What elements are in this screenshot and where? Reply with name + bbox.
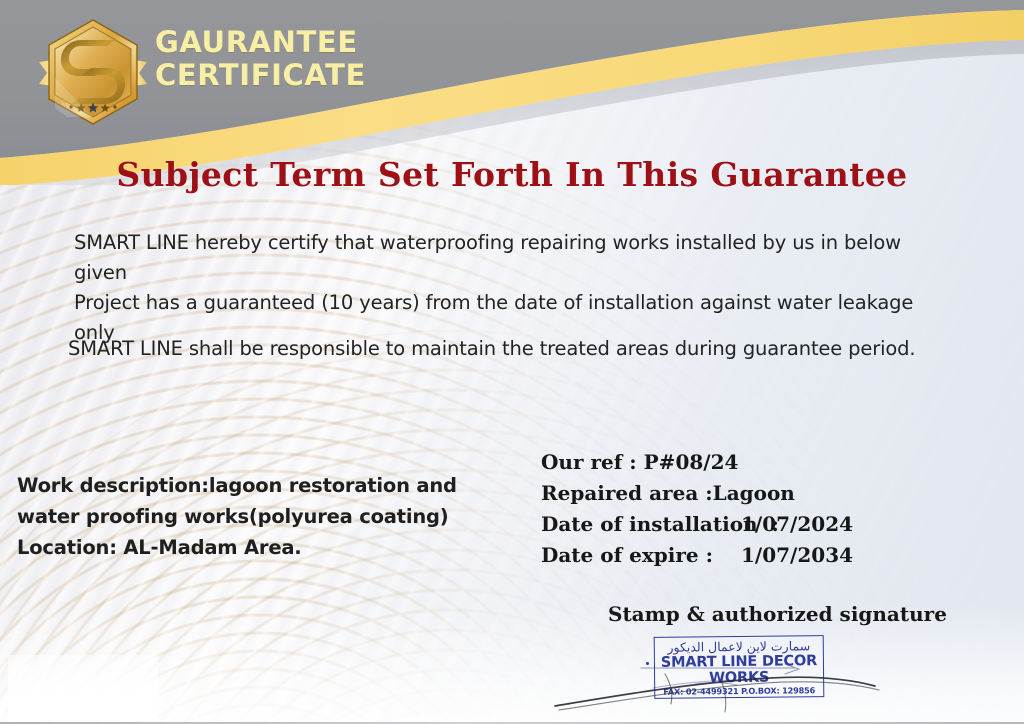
expire-date-value: 1/07/2034 [741, 540, 853, 571]
install-date-value: 1/07/2024 [741, 509, 853, 540]
repaired-area-value: Lagoon [713, 478, 795, 509]
repaired-area-label: Repaired area : [541, 478, 713, 509]
stamp-contact-line: FAX: 02-4499321 P.O.BOX: 129856 [655, 685, 823, 698]
header-title-line2: CERTIFICATE [155, 59, 575, 92]
install-date-row: Date of installation : 1/07/2024 [541, 509, 971, 540]
stamp-arabic-text: سمارت لاين لاعمال الديكور [655, 636, 823, 655]
our-ref-label: Our ref : [541, 447, 644, 478]
work-location-line: Location: AL-Madam Area. [17, 532, 487, 563]
page-title: Subject Term Set Forth In This Guarantee [0, 155, 1024, 194]
award-badge [33, 16, 153, 128]
stamp-ink-dot [646, 662, 649, 665]
header-title-line1: GAURANTEE [155, 25, 358, 59]
expire-date-row: Date of expire : 1/07/2034 [541, 540, 971, 571]
expire-date-label: Date of expire : [541, 540, 741, 571]
install-date-label: Date of installation : [541, 509, 741, 540]
header-title: GAURANTEE CERTIFICATE [155, 26, 575, 92]
our-ref-row: Our ref : P#08/24 [541, 447, 971, 478]
hexagon-award-badge-icon [33, 16, 153, 128]
stamp-signature-label: Stamp & authorized signature [608, 602, 947, 626]
work-description-line1: Work description:lagoon restoration and [17, 470, 487, 501]
scan-artifact-patch [8, 655, 158, 721]
stamp-company-name: SMART LINE DECOR WORKS [655, 653, 823, 687]
certificate-page: GAURANTEE CERTIFICATE Subject Term Set F… [0, 0, 1024, 724]
our-ref-value: P#08/24 [644, 447, 739, 478]
maintenance-paragraph: SMART LINE shall be responsible to maint… [68, 334, 968, 364]
work-description-block: Work description:lagoon restoration and … [17, 470, 487, 563]
reference-details-block: Our ref : P#08/24 Repaired area : Lagoon… [541, 447, 971, 571]
certify-paragraph-line1: SMART LINE hereby certify that waterproo… [74, 228, 944, 288]
work-description-line2: water proofing works(polyurea coating) [17, 501, 487, 532]
repaired-area-row: Repaired area : Lagoon [541, 478, 971, 509]
company-stamp: سمارت لاين لاعمال الديكور SMART LINE DEC… [654, 635, 825, 699]
certify-paragraph: SMART LINE hereby certify that waterproo… [74, 228, 944, 348]
